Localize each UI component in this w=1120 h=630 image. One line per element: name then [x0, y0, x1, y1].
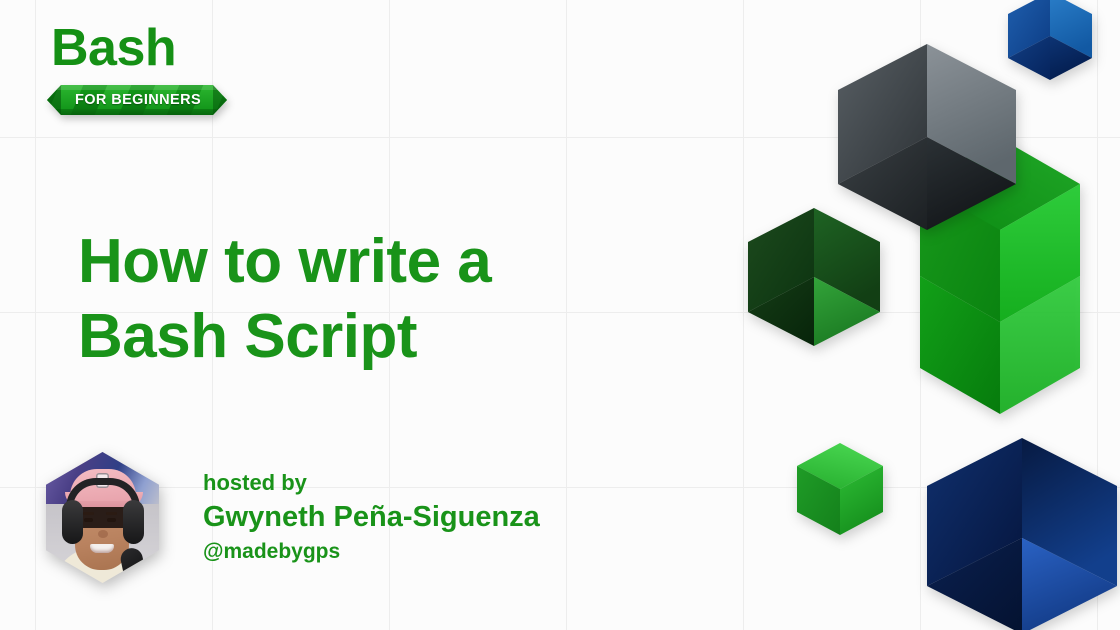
avatar-headphone-right-cup: [123, 500, 144, 544]
slide-root: Bash: [0, 0, 1120, 630]
avatar: [46, 452, 159, 583]
avatar-headphone-left-cup: [62, 500, 83, 544]
cube-gray-dark-large: [838, 44, 1016, 230]
avatar-photo: [46, 452, 159, 583]
avatar-nose: [98, 530, 108, 538]
page-title: How to write a Bash Script: [78, 224, 698, 375]
avatar-eyebrow-left: [83, 512, 94, 515]
title-line-2: Bash Script: [78, 299, 698, 375]
presenter-block: hosted by Gwyneth Peña-Siguenza @madebyg…: [46, 452, 540, 583]
avatar-smile: [90, 544, 114, 553]
presenter-text: hosted by Gwyneth Peña-Siguenza @madebyg…: [203, 469, 540, 567]
brand-logo: Bash: [47, 22, 227, 119]
avatar-eye-left: [84, 518, 93, 522]
cube-green-dark-medium: [748, 208, 880, 346]
cube-navy-large-bottom-right: [927, 438, 1117, 630]
title-line-1: How to write a: [78, 224, 698, 300]
brand-word: Bash: [51, 22, 227, 74]
ribbon-label: FOR BEGINNERS: [47, 81, 227, 119]
cube-green-small-bottom: [797, 443, 883, 535]
avatar-eyebrow-right: [106, 512, 117, 515]
presenter-handle: @madebygps: [203, 537, 540, 566]
avatar-eye-right: [107, 518, 116, 522]
presenter-name: Gwyneth Peña-Siguenza: [203, 500, 540, 535]
hosted-by-label: hosted by: [203, 469, 540, 498]
for-beginners-ribbon: FOR BEGINNERS: [47, 81, 227, 119]
cube-blue-small-top-right: [1008, 0, 1092, 80]
